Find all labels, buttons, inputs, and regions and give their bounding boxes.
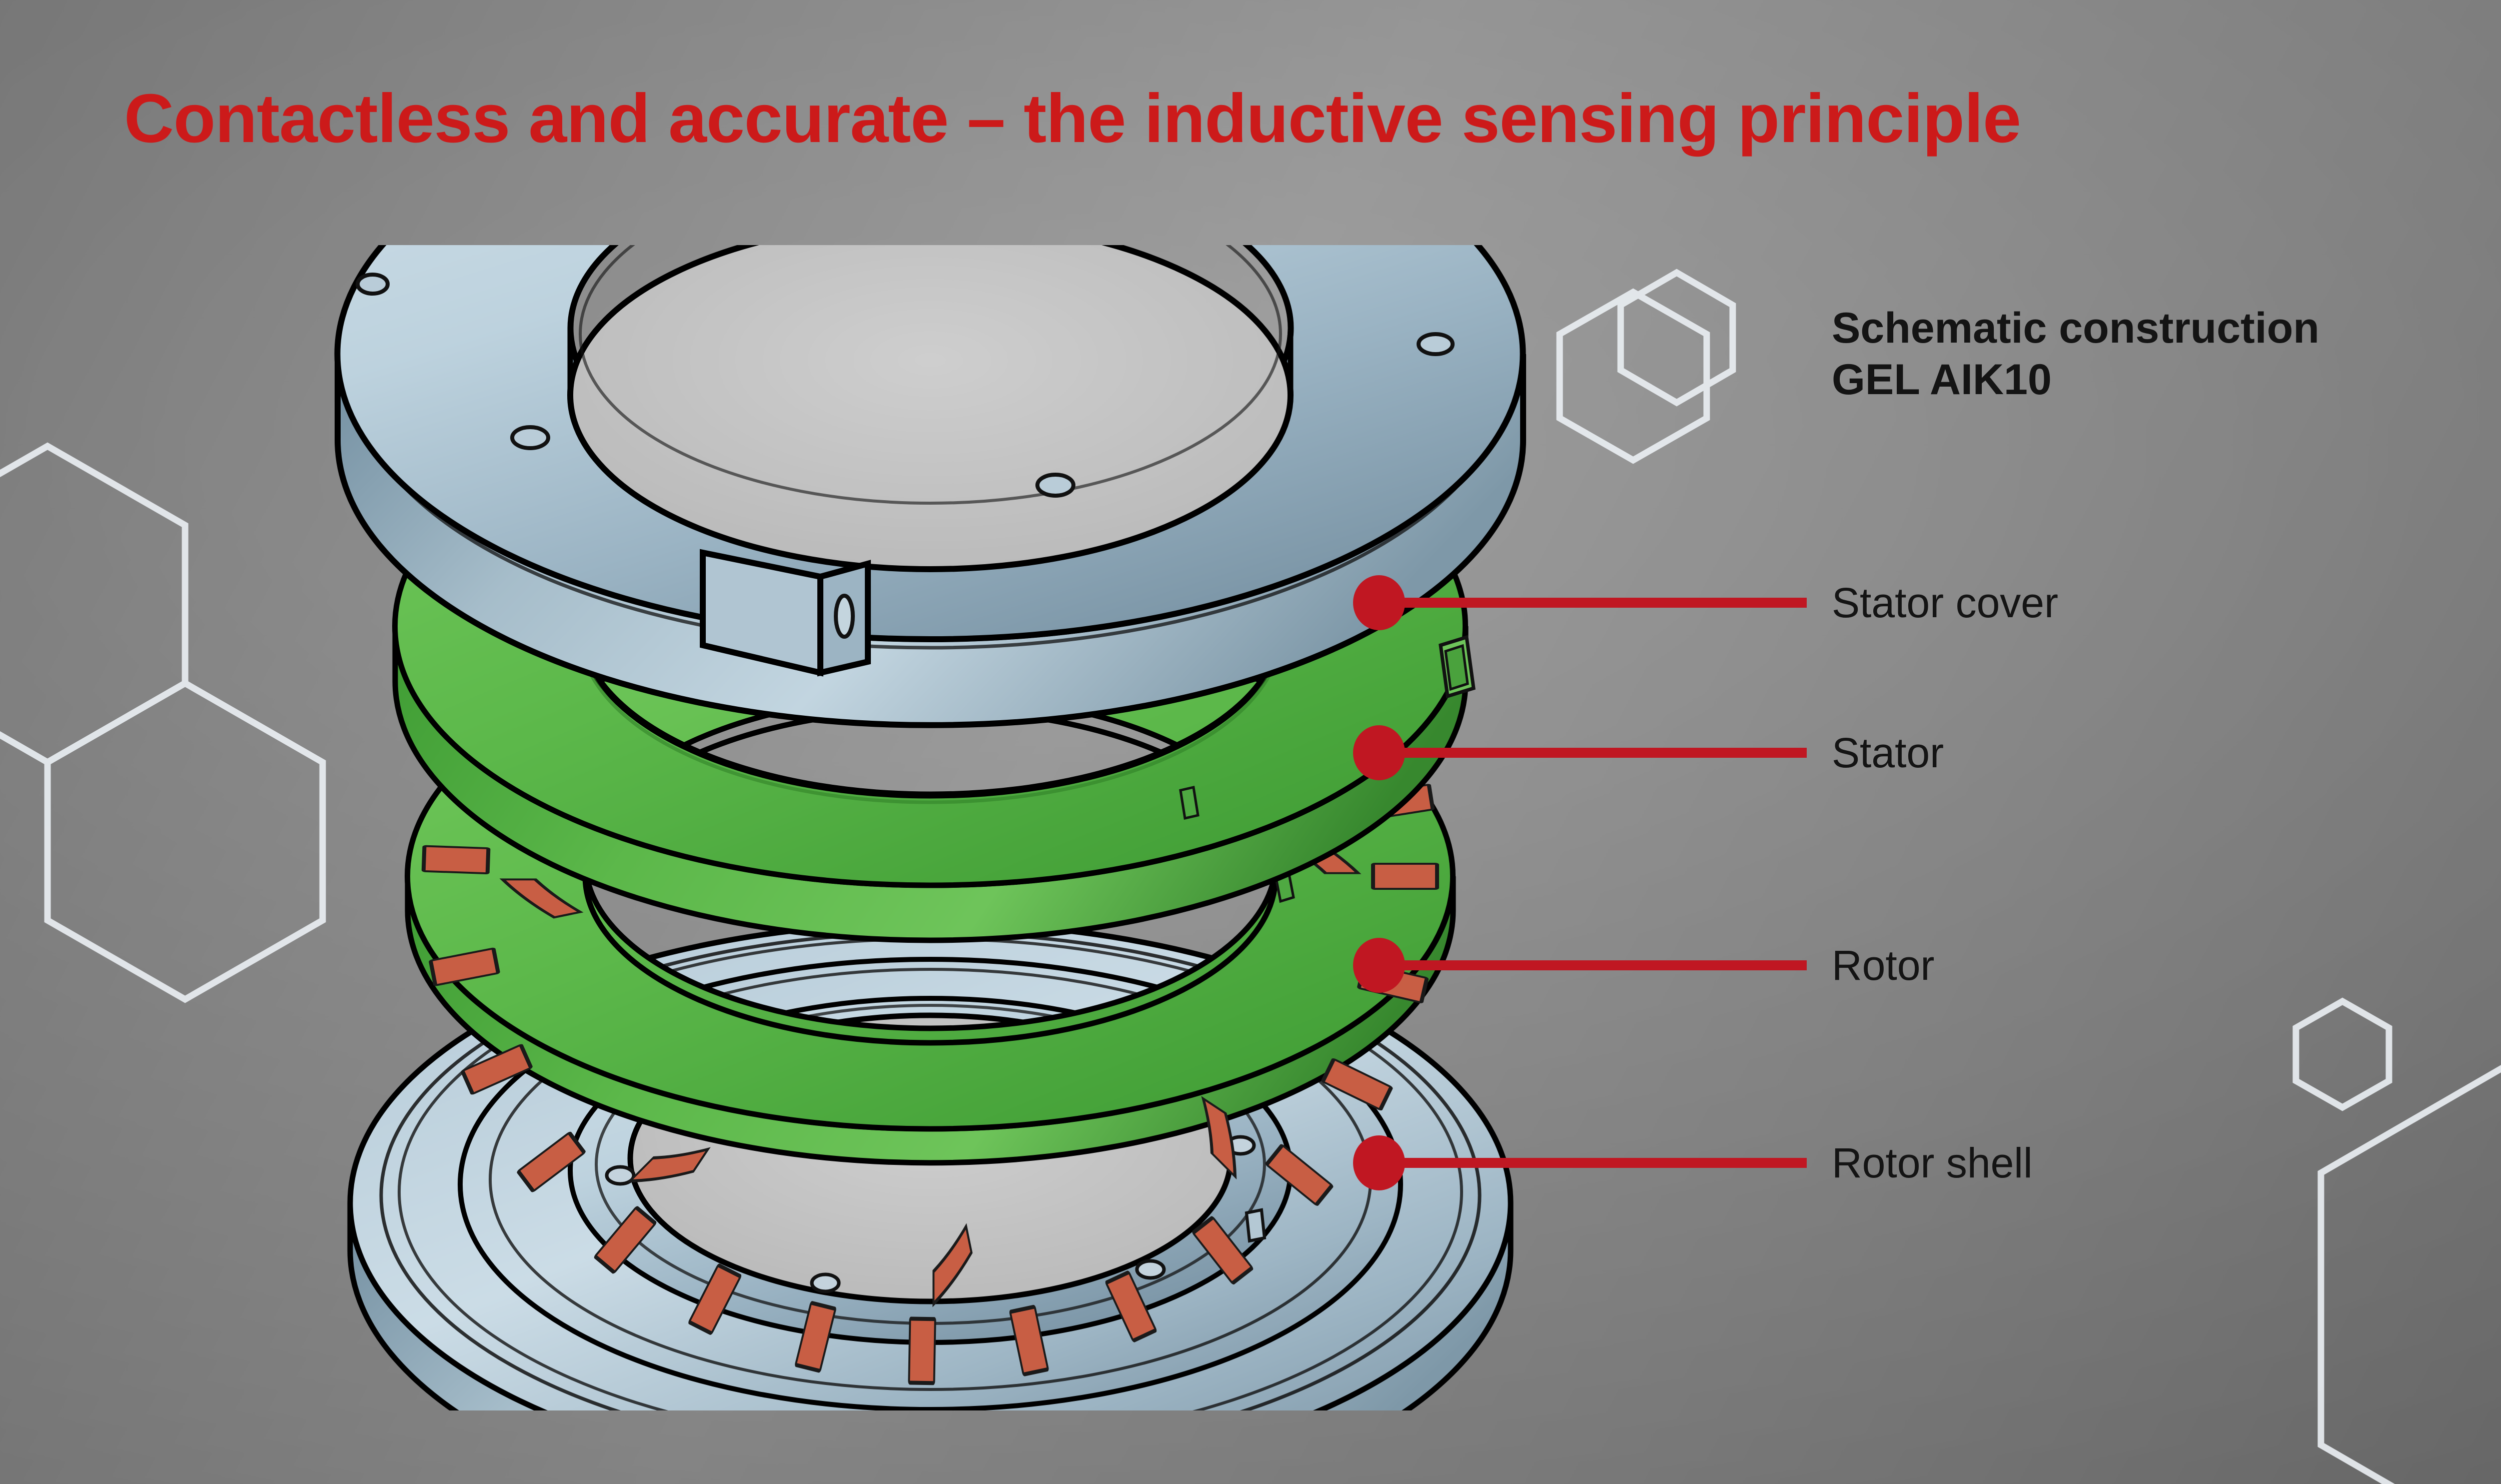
section-heading: Schematic construction GEL AIK10	[1832, 303, 2319, 406]
hexagon-top-small	[1621, 273, 1733, 403]
callout-label-rotor-shell: Rotor shell	[1832, 1142, 2033, 1184]
hexagon-left-lower	[48, 683, 323, 999]
slide-canvas: Contactless and accurate – the inductive…	[0, 0, 2501, 1484]
hexagon-right-small	[2296, 1001, 2389, 1107]
callout-label-stator: Stator	[1832, 732, 1944, 774]
page-title: Contactless and accurate – the inductive…	[124, 84, 2021, 153]
callout-label-stator-cover: Stator cover	[1832, 582, 2058, 624]
section-heading-line2: GEL AIK10	[1832, 354, 2319, 406]
exploded-assembly-diagram	[320, 245, 1621, 1410]
hexagon-left-upper	[0, 446, 185, 762]
section-heading-line1: Schematic construction	[1832, 303, 2319, 354]
callout-label-rotor: Rotor	[1832, 944, 1934, 986]
stator-connector-tab	[1441, 637, 1474, 696]
